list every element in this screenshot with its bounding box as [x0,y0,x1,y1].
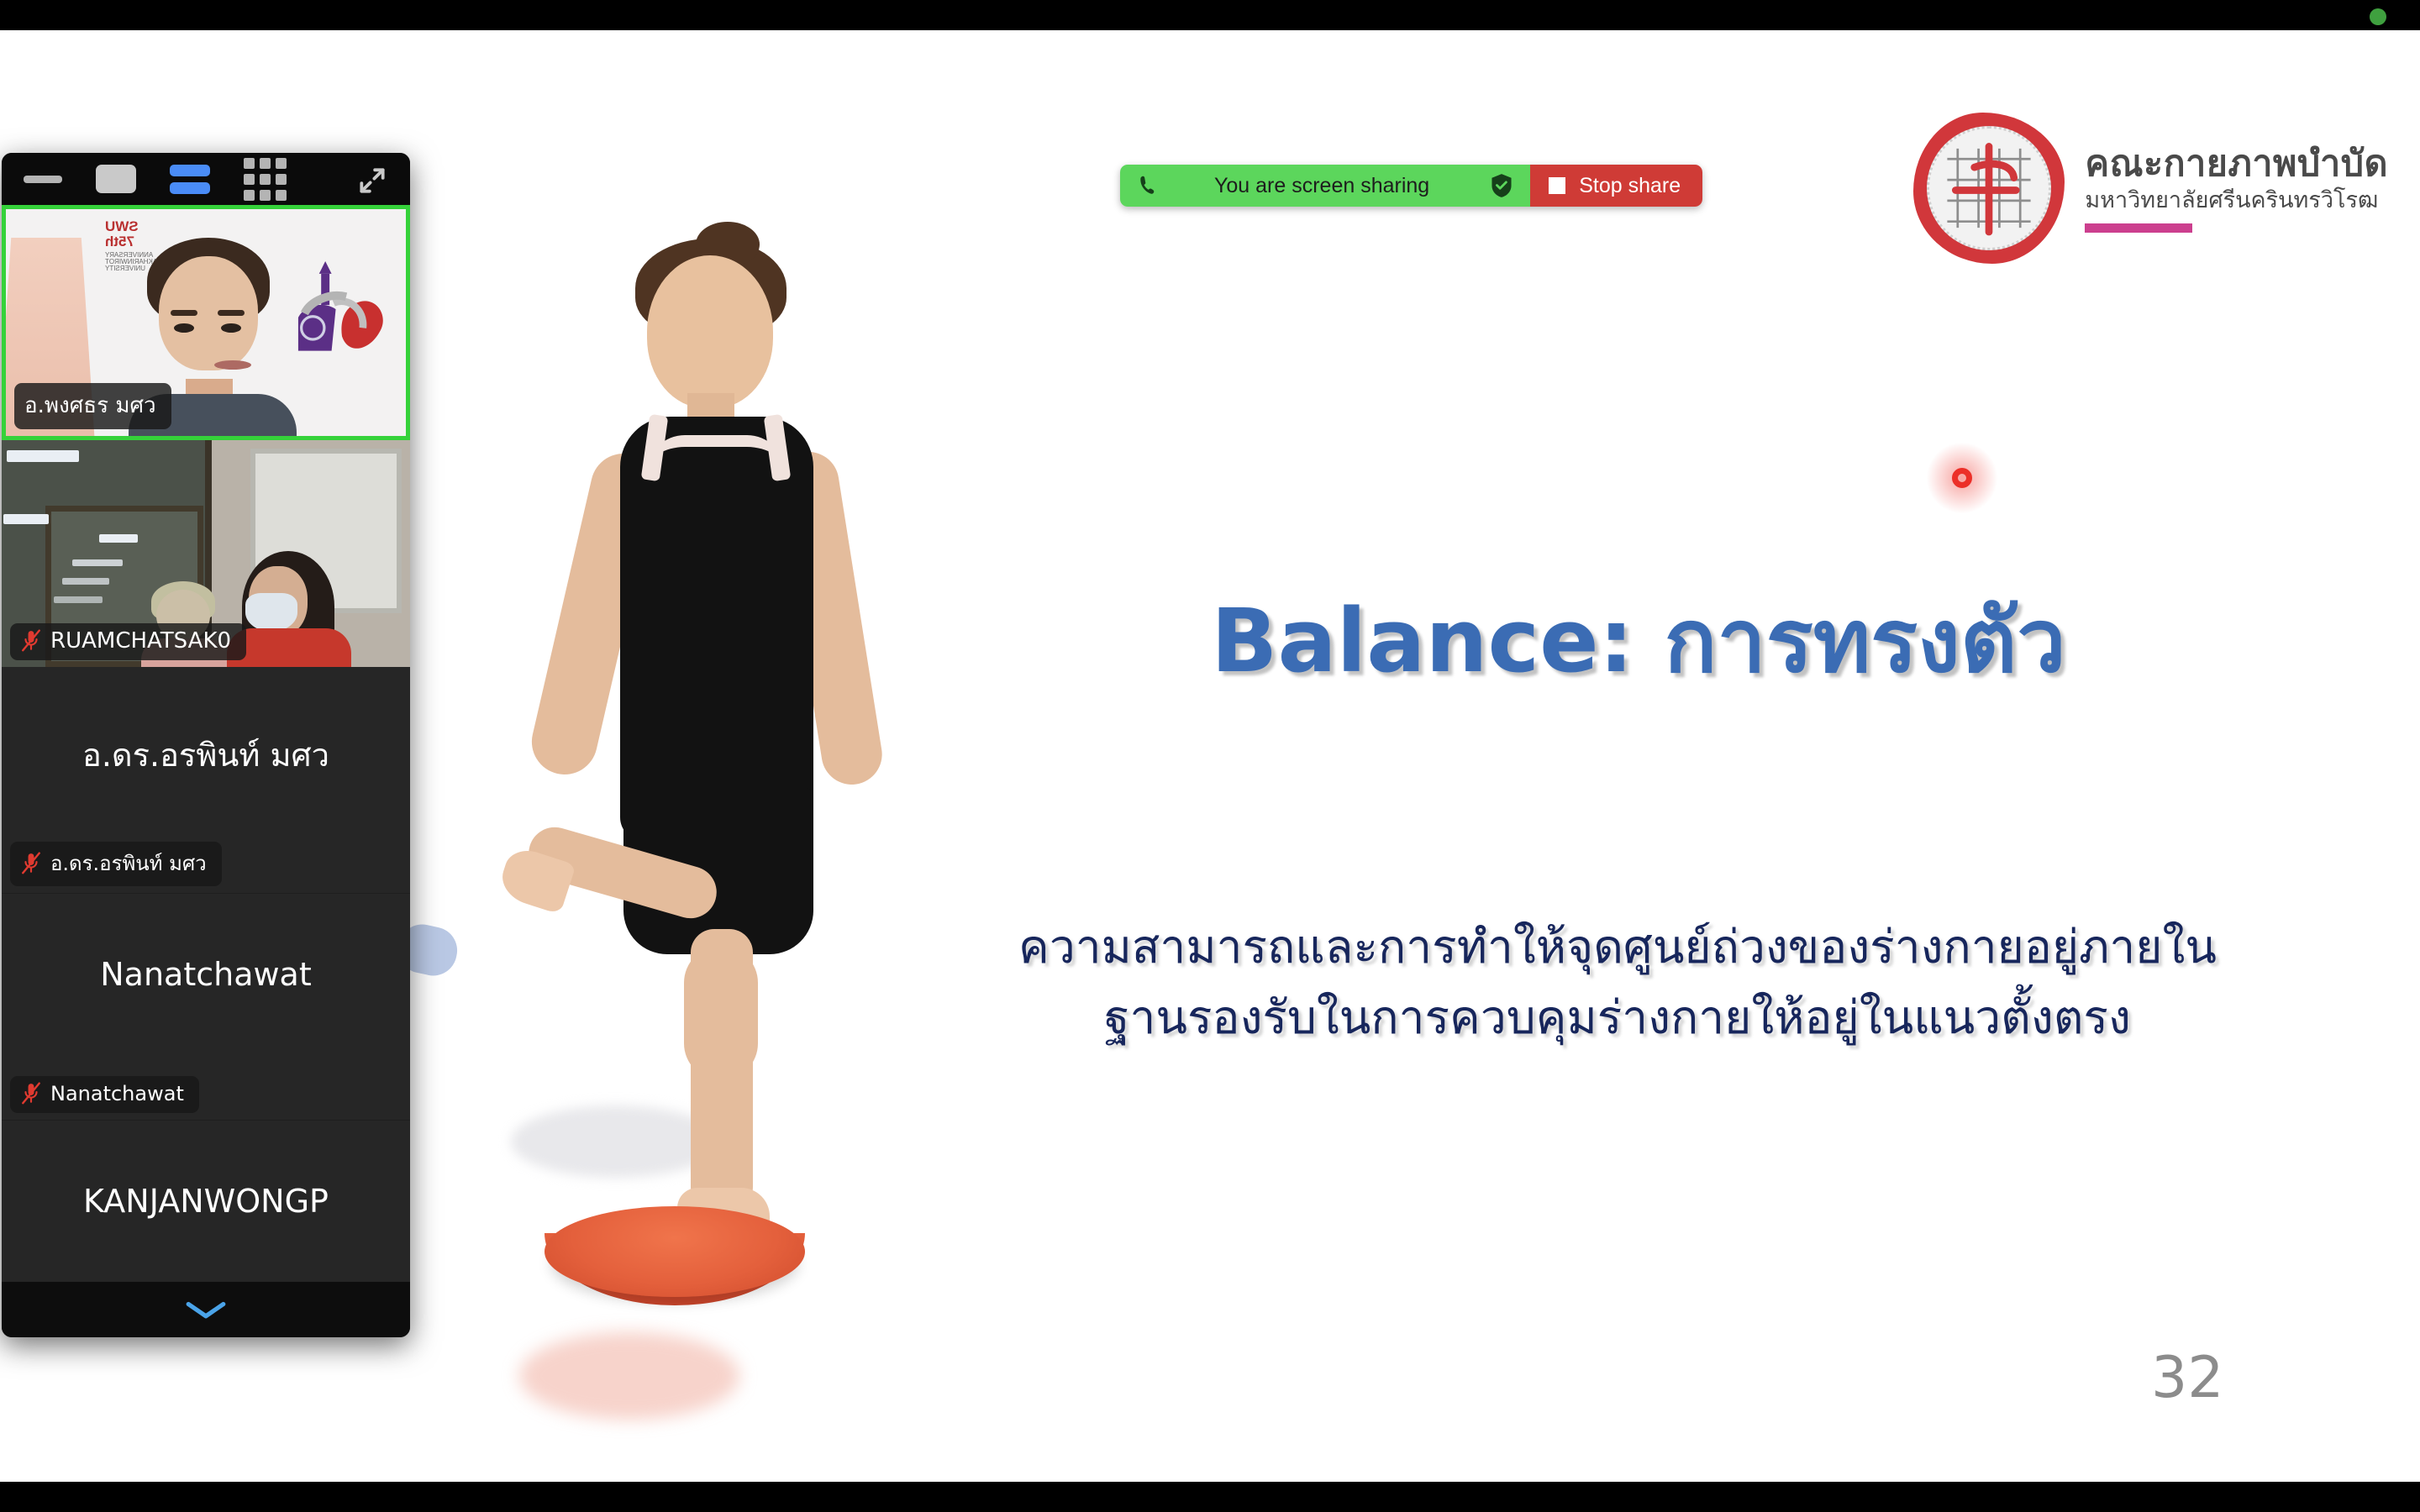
swu-anniversary-logo-icon [290,255,394,381]
video-tile-name-badge: RUAMCHATSAK0 [10,623,246,660]
shield-check-icon [1490,173,1513,198]
swu-seal-icon [1913,113,2065,264]
share-status-text: You are screen sharing [1179,174,1471,198]
stop-share-label: Stop share [1579,174,1681,198]
participant-badge-name: อ.ดร.อรพินท์ มศว [50,847,207,879]
mic-muted-icon [20,628,42,654]
camera-in-use-indicator-icon [2370,8,2386,25]
logo-accent-rule [2085,223,2192,233]
mic-muted-icon [20,1081,42,1106]
participant-name-badge: อ.ดร.อรพินท์ มศว [10,842,222,886]
system-top-bar [0,0,2420,30]
participant-list-scroll-more[interactable] [2,1282,410,1337]
logo-faculty-name: คณะกายภาพบำบัด [2085,144,2388,184]
slide-body-text: ความสามารถและการทำให้จุดศูนย์ถ่วงของร่าง… [849,912,2386,1053]
slide-body-line-2: ฐานรองรับในการควบคุมร่างกายให้อยู่ในแนวต… [849,983,2386,1053]
participant-row[interactable]: อ.ดร.อรพินท์ มศว อ.ดร.อรพินท์ มศว [2,667,410,894]
slide-title: Balance: การทรงตัว [975,593,2302,689]
logo-university-name: มหาวิทยาลัยศรีนครินทรวิโรฒ [2085,187,2388,213]
screen-share-status-bar[interactable]: You are screen sharing Stop share [1120,165,1702,207]
participant-badge-name: Nanatchawat [50,1082,184,1105]
video-tile-secondary[interactable]: RUAMCHATSAK0 [2,440,410,667]
speaker-view-icon[interactable] [170,165,210,194]
participant-list[interactable]: อ.ดร.อรพินท์ มศว อ.ดร.อรพินท์ มศว Nanatc… [2,667,410,1282]
participant-name: RUAMCHATSAK0 [50,628,231,654]
participant-name: อ.พงศธร มศว [24,388,156,423]
video-tile-active-speaker[interactable]: SWU75th ANNIVERSARYSRINAKHARINWIROT UNIV… [2,205,410,440]
participant-display-name: Nanatchawat [2,956,410,993]
mic-muted-icon [20,851,42,876]
participant-display-name: KANJANWONGP [2,1183,410,1220]
chevron-down-icon[interactable] [183,1299,229,1320]
stop-square-icon [1549,177,1565,194]
minimize-icon[interactable] [24,176,62,183]
slide-body-line-1: ความสามารถและการทำให้จุดศูนย์ถ่วงของร่าง… [849,912,2386,983]
share-status-section: You are screen sharing [1120,165,1530,207]
laser-pointer-dot-icon [1945,461,1979,495]
faculty-logo: คณะกายภาพบำบัด มหาวิทยาลัยศรีนครินทรวิโร… [1913,113,2388,264]
zoom-panel-toolbar [2,153,410,205]
screen-root: คณะกายภาพบำบัด มหาวิทยาลัยศรีนครินทรวิโร… [0,0,2420,1512]
participant-row[interactable]: KANJANWONGP KANJANWONGP [2,1121,410,1282]
expand-icon[interactable] [356,165,388,197]
phone-icon [1135,173,1160,198]
participant-display-name: อ.ดร.อรพินท์ มศว [2,729,410,780]
single-view-icon[interactable] [96,165,136,193]
slide-page-number: 32 [2151,1345,2224,1411]
participant-row[interactable]: Nanatchawat Nanatchawat [2,894,410,1121]
gallery-view-icon[interactable] [244,158,287,201]
zoom-video-panel[interactable]: SWU75th ANNIVERSARYSRINAKHARINWIROT UNIV… [2,153,410,1337]
participant-name-badge: Nanatchawat [10,1076,199,1113]
stop-share-button[interactable]: Stop share [1530,165,1702,207]
balance-exercise-photo [395,207,1017,1425]
video-tile-name-badge: อ.พงศธร มศว [14,383,171,429]
